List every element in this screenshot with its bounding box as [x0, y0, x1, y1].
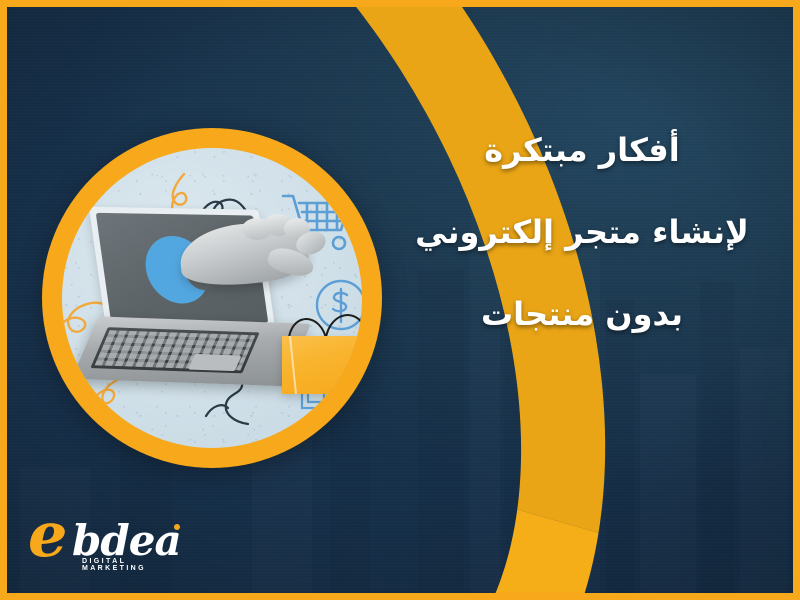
logo-wordmark: bdea	[72, 520, 181, 562]
medallion-image	[62, 148, 362, 448]
headline-line-1: أفكار مبتكرة	[398, 132, 766, 170]
logo-dot-icon	[174, 524, 180, 530]
logo-mark-e: e	[28, 504, 67, 566]
headline-line-2: لإنشاء متجر إلكتروني	[398, 214, 766, 252]
headline: أفكار مبتكرة لإنشاء متجر إلكتروني بدون م…	[398, 132, 766, 333]
shopping-bag-icon	[282, 318, 362, 394]
headline-line-3: بدون منتجات	[398, 296, 766, 334]
brand-logo: e bdea DIGITAL MARKETING	[28, 506, 188, 568]
logo-tagline: DIGITAL MARKETING	[82, 558, 188, 572]
medallion-ring	[42, 128, 382, 468]
social-media-poster: أفكار مبتكرة لإنشاء متجر إلكتروني بدون م…	[0, 0, 800, 600]
hand-icon	[180, 206, 332, 298]
